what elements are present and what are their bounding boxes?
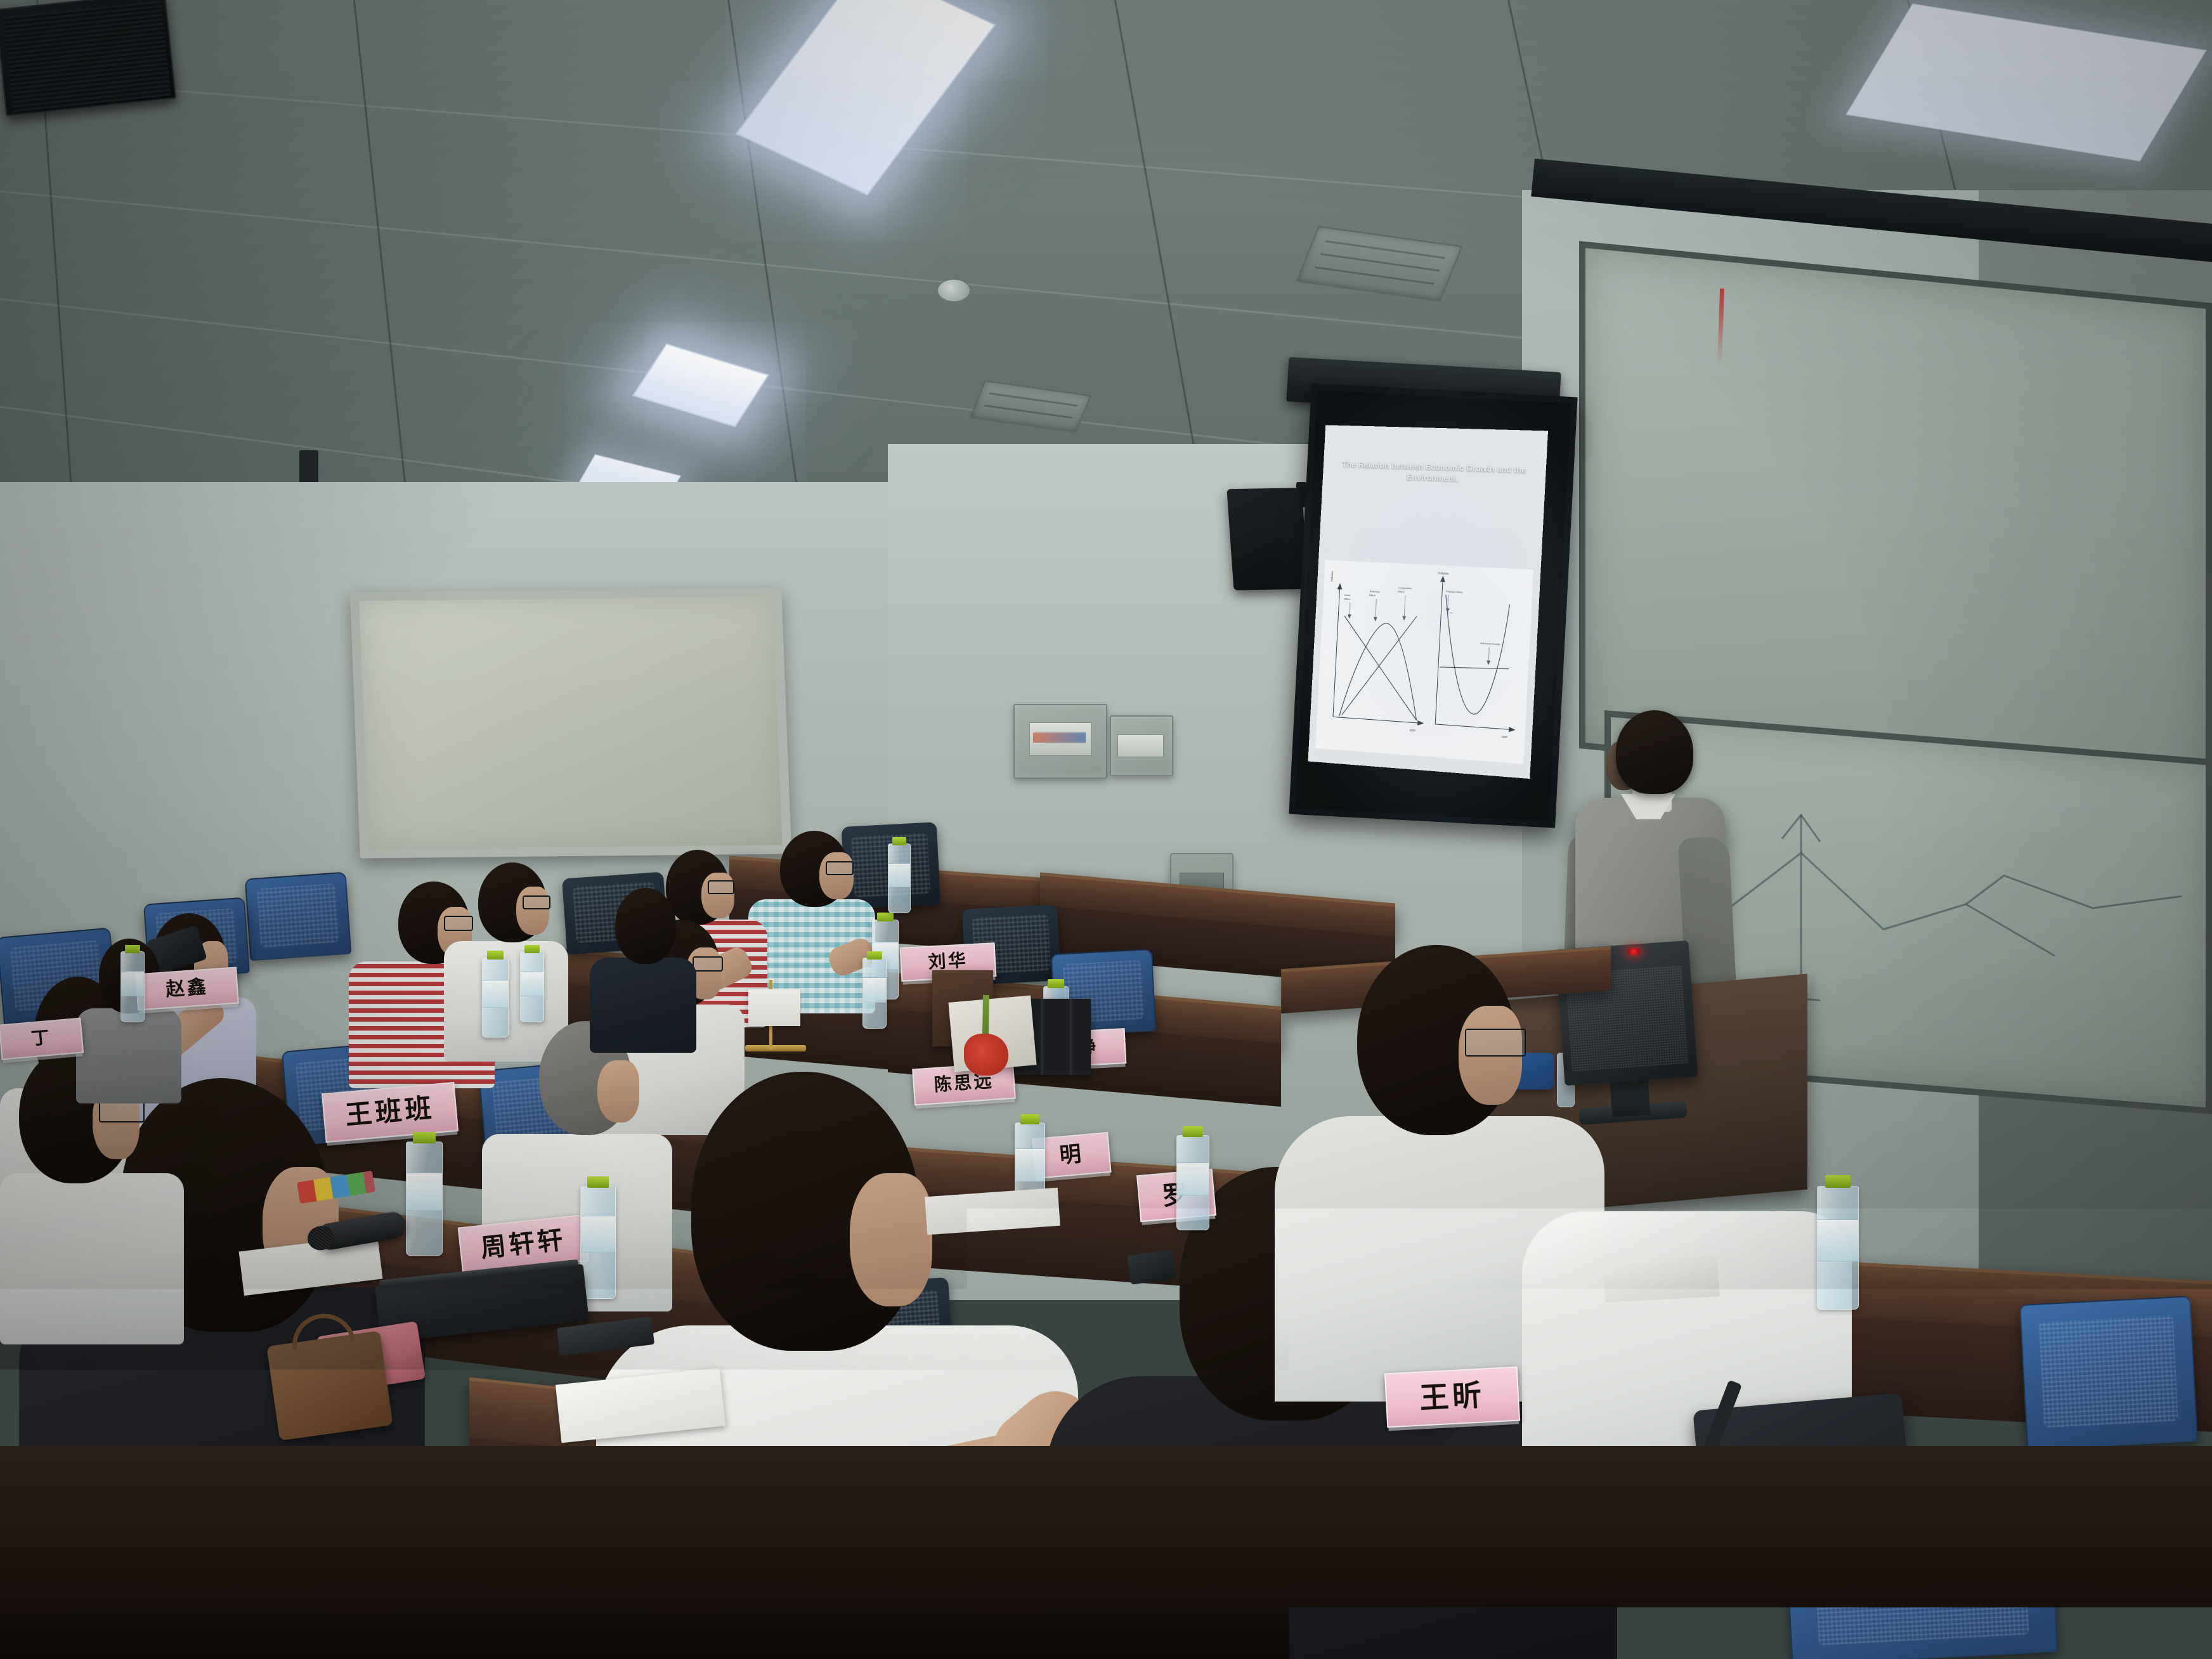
water-bottle-11[interactable] <box>120 951 145 1022</box>
name-card-1: 王班班 <box>322 1082 459 1143</box>
red-flower-decoration <box>964 1034 1008 1076</box>
chart-left: Pollution GDP Sc <box>1322 571 1431 733</box>
laser-pointer-dot <box>1627 948 1641 955</box>
svg-text:Pollution: Pollution <box>1330 571 1334 582</box>
name-card-3: 赵鑫 <box>135 966 239 1010</box>
smoke-detector <box>937 279 970 302</box>
svg-text:Effect: Effect <box>1369 594 1376 597</box>
chair-empty-10[interactable] <box>2019 1296 2198 1450</box>
whiteboard-left <box>350 588 791 859</box>
chair-empty-3[interactable] <box>245 872 352 961</box>
table-flag-base <box>745 1045 806 1051</box>
annotation-pollution-effect: Pollution Effect <box>1445 590 1463 614</box>
presenter-head <box>1616 710 1693 794</box>
wall-speaker <box>1226 488 1308 590</box>
svg-text:Technical: Technical <box>1369 590 1380 594</box>
name-card-8: 王昕 <box>1384 1367 1520 1428</box>
paper-handout-4[interactable] <box>1603 1256 1719 1302</box>
water-bottle-5[interactable] <box>482 958 509 1038</box>
water-bottle-1[interactable] <box>406 1142 443 1256</box>
svg-text:Pollution: Pollution <box>1438 571 1449 575</box>
slide-charts: Pollution GDP Sc <box>1315 560 1534 764</box>
water-bottle-9[interactable] <box>1176 1135 1209 1230</box>
electrical-box-2 <box>1110 715 1173 776</box>
corner-speaker <box>0 0 176 117</box>
water-bottle-3[interactable] <box>1817 1186 1859 1310</box>
annotation-composition-effect: Composition Effect <box>1396 586 1412 621</box>
slide-chart-svg: Pollution GDP Sc <box>1315 560 1533 763</box>
attendee-filler <box>729 812 748 831</box>
svg-text:GDP: GDP <box>1409 729 1415 732</box>
svg-text:Balanced Growth: Balanced Growth <box>1480 641 1500 646</box>
table-flag <box>748 989 800 1026</box>
presentation-slide: The Relation between Economic Growth and… <box>1308 425 1548 779</box>
projection-screen: The Relation between Economic Growth and… <box>1289 383 1577 828</box>
water-bottle-10[interactable] <box>862 958 887 1029</box>
floor <box>0 1446 2212 1659</box>
annotation-balanced-growth: Balanced Growth <box>1479 641 1500 665</box>
water-bottle-12[interactable] <box>520 951 544 1022</box>
annotation-technical-effect: Technical Effect <box>1367 590 1379 621</box>
attendee-back-left-small <box>590 888 698 1046</box>
water-bottle-7[interactable] <box>888 843 911 913</box>
electrical-box-1 <box>1013 704 1107 779</box>
svg-text:Effect: Effect <box>1398 590 1405 594</box>
svg-text:Pollution Effect: Pollution Effect <box>1446 590 1464 594</box>
lecture-hall-photo: The Relation between Economic Growth and… <box>0 0 2212 1659</box>
chart-right: Pollution GDP Pollution Effect <box>1429 571 1523 739</box>
water-bottle-2[interactable] <box>580 1186 616 1299</box>
svg-text:Effect: Effect <box>1344 597 1351 601</box>
annotation-scale-effect: Scale Effect <box>1343 594 1352 619</box>
svg-text:GDP: GDP <box>1501 735 1507 739</box>
svg-text:Scale: Scale <box>1344 594 1351 597</box>
handbag[interactable] <box>266 1330 393 1441</box>
speaker-grill <box>3 1 171 112</box>
name-card-10: 丁 <box>0 1017 84 1060</box>
